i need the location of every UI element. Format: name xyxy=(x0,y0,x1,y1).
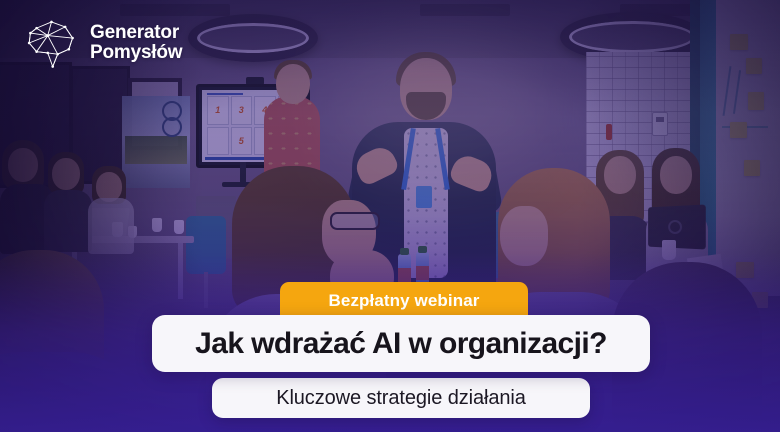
webinar-banner: 1 3 4 5 xyxy=(0,0,780,432)
brain-network-icon xyxy=(18,14,80,72)
brand-name: Generator Pomysłów xyxy=(90,23,182,63)
brand-logo[interactable]: Generator Pomysłów xyxy=(18,14,182,72)
webinar-title: Jak wdrażać AI w organizacji? xyxy=(195,327,607,361)
title-pill: Jak wdrażać AI w organizacji? xyxy=(152,315,650,372)
kicker-label: Bezpłatny webinar xyxy=(329,291,480,314)
brand-name-line1: Generator xyxy=(90,23,182,43)
webinar-subtitle: Kluczowe strategie działania xyxy=(276,387,526,410)
subtitle-pill: Kluczowe strategie działania xyxy=(212,378,590,418)
brand-name-line2: Pomysłów xyxy=(90,43,182,63)
